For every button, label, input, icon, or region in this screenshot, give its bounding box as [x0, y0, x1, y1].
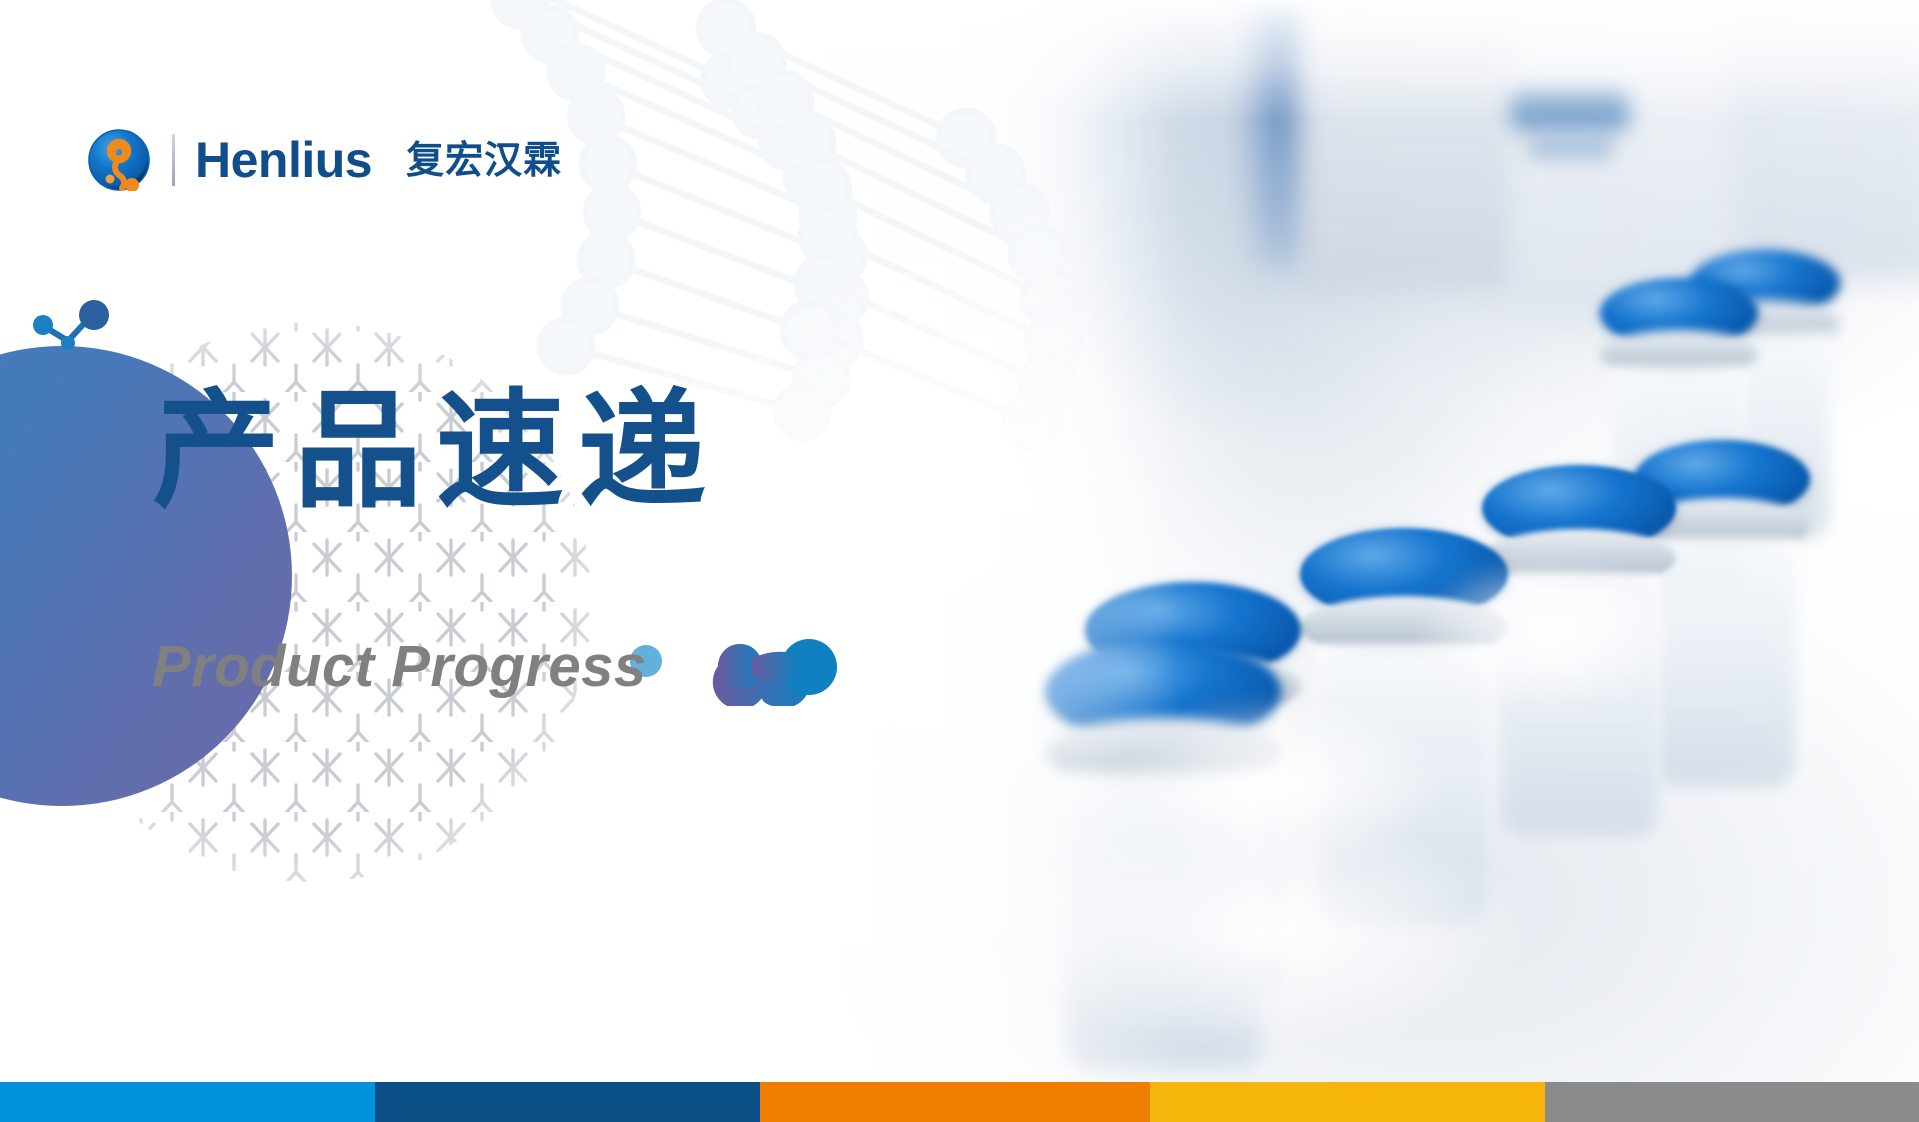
color-bar-segment-gold	[1150, 1082, 1545, 1122]
color-bar-segment-dark-blue	[375, 1082, 760, 1122]
page-title-cn: 产品速递	[152, 385, 720, 519]
brand-color-bar	[0, 1082, 1919, 1122]
logo-wordmark: Henlius	[195, 135, 372, 185]
logo-name-cn: 复宏汉霖	[406, 141, 562, 179]
color-bar-segment-light-blue	[0, 1082, 375, 1122]
photo-bottle-label-2	[1528, 140, 1614, 158]
metaball-molecule	[690, 626, 850, 706]
molecule-node-icon	[28, 300, 124, 360]
logo-divider	[172, 134, 175, 186]
slide-root: Henlius 复宏汉霖 产品速递 Product Progress	[0, 0, 1919, 1122]
color-bar-segment-orange	[760, 1082, 1150, 1122]
color-bar-segment-gray	[1545, 1082, 1919, 1122]
page-subtitle-en: Product Progress	[152, 638, 647, 696]
henlius-logo[interactable]: Henlius 复宏汉霖	[88, 128, 562, 192]
henlius-molecule-logo-mark	[88, 129, 150, 191]
photo-glare-2	[1420, 560, 1680, 710]
